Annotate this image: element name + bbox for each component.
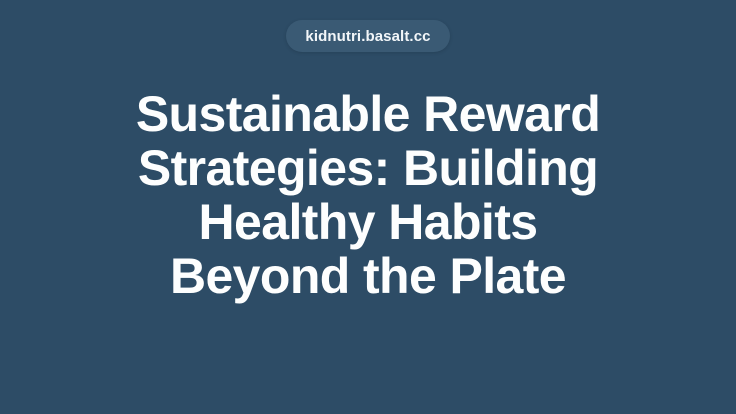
url-badge[interactable]: kidnutri.basalt.cc (286, 20, 449, 52)
url-badge-text: kidnutri.basalt.cc (305, 29, 430, 44)
page-title: Sustainable Reward Strategies: Building … (48, 87, 688, 303)
page-title-line-3: Healthy Habits (48, 195, 688, 249)
title-slide: kidnutri.basalt.cc Sustainable Reward St… (0, 0, 736, 414)
page-title-line-2: Strategies: Building (48, 141, 688, 195)
page-title-line-1: Sustainable Reward (48, 87, 688, 141)
page-title-line-4: Beyond the Plate (48, 249, 688, 303)
